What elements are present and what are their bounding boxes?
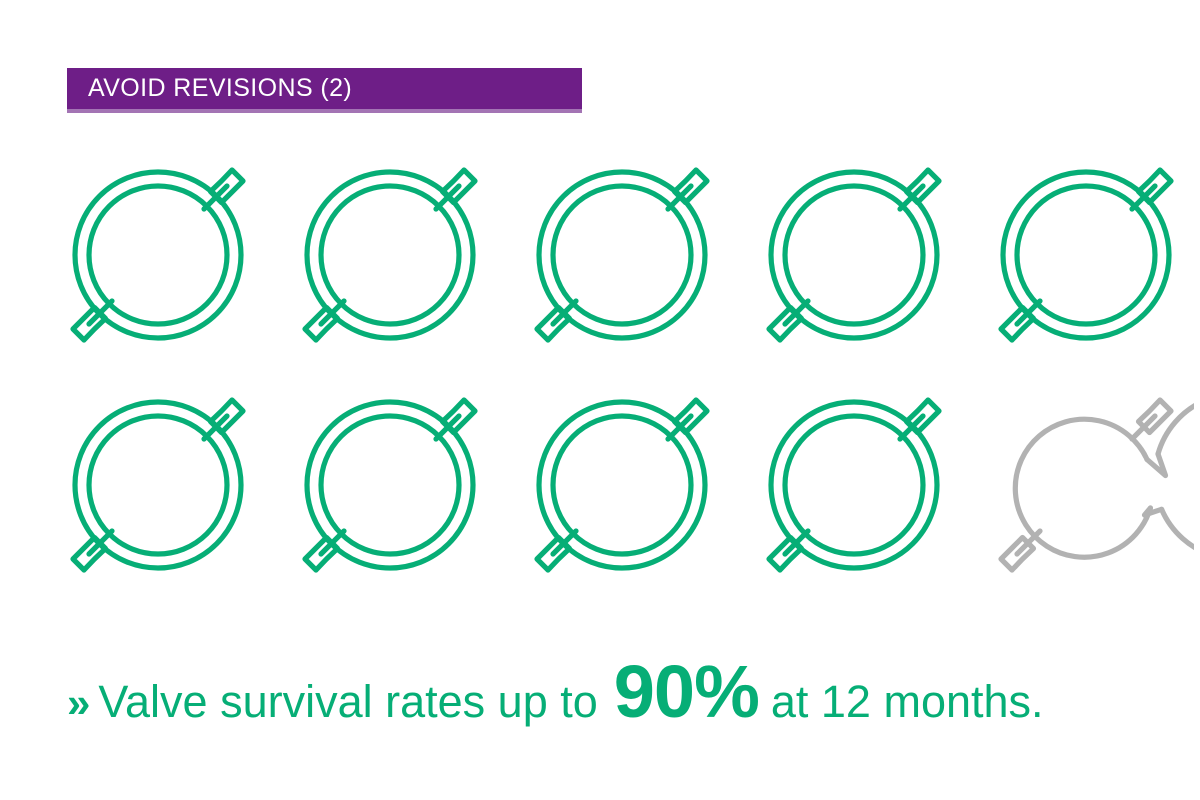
heart-valve-icon <box>520 382 730 592</box>
chevron-double-right-icon: » <box>67 682 86 724</box>
heart-valve-icon <box>288 382 498 592</box>
heart-valve-icon <box>752 382 962 592</box>
heart-valve-broken-icon <box>984 382 1194 592</box>
valve-icon-8 <box>520 382 730 592</box>
heart-valve-icon <box>288 152 498 362</box>
heart-valve-icon <box>752 152 962 362</box>
header-banner: AVOID REVISIONS (2) <box>67 68 582 109</box>
valve-icon-7 <box>288 382 498 592</box>
heart-valve-icon <box>56 152 266 362</box>
valve-icon-10-broken <box>984 382 1194 592</box>
infographic-page: AVOID REVISIONS (2) <box>0 0 1200 800</box>
caption-lead-text: Valve survival rates up to <box>98 679 597 724</box>
valve-pictogram-grid <box>56 152 1166 592</box>
valve-icon-4 <box>752 152 962 362</box>
valve-icon-3 <box>520 152 730 362</box>
caption-trail-text: at 12 months. <box>771 679 1044 724</box>
valve-icon-5 <box>984 152 1194 362</box>
valve-icon-6 <box>56 382 266 592</box>
heart-valve-icon <box>56 382 266 592</box>
valve-row-1 <box>56 152 1166 362</box>
heart-valve-icon <box>520 152 730 362</box>
valve-icon-2 <box>288 152 498 362</box>
heart-valve-icon <box>984 152 1194 362</box>
header-banner-underline <box>67 109 582 113</box>
caption-statistic: 90% <box>614 655 759 729</box>
valve-row-2 <box>56 382 1166 592</box>
page-title: AVOID REVISIONS (2) <box>67 74 352 103</box>
valve-icon-1 <box>56 152 266 362</box>
valve-icon-9 <box>752 382 962 592</box>
caption: » Valve survival rates up to 90% at 12 m… <box>67 655 1157 735</box>
